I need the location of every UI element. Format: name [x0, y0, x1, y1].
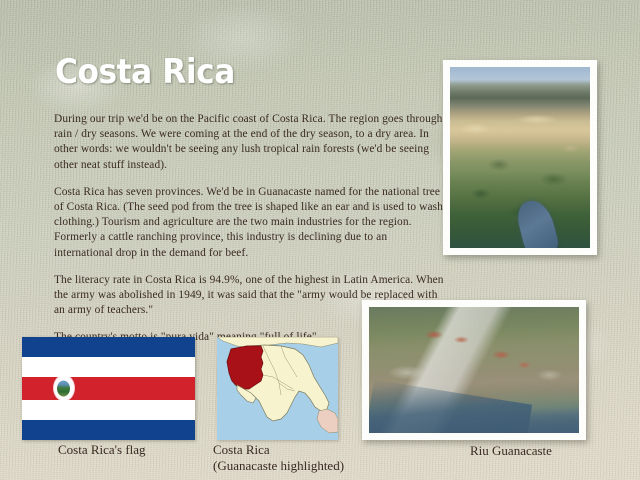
paragraph-provinces: Costa Rica has seven provinces. We'd be …: [54, 185, 444, 261]
coat-of-arms-inner: [57, 380, 70, 396]
flag-band-white-bottom: [22, 400, 195, 420]
paragraph-intro: During our trip we'd be on the Pacific c…: [54, 112, 444, 173]
costa-rica-flag: [22, 337, 195, 440]
costa-rica-map-svg: [217, 337, 338, 440]
flag-band-blue-bottom: [22, 420, 195, 440]
caption-map: Costa Rica (Guanacaste highlighted): [213, 442, 363, 474]
coat-of-arms-icon: [54, 376, 74, 401]
page-title: Costa Rica: [55, 52, 235, 92]
flag-band-white-top: [22, 357, 195, 377]
presentation-slide: Costa Rica During our trip we'd be on th…: [0, 0, 640, 480]
caption-map-line2: (Guanacaste highlighted): [213, 458, 363, 474]
caption-map-line1: Costa Rica: [213, 442, 363, 458]
flag-band-red: [22, 377, 195, 400]
guanacaste-landscape-photo: [443, 60, 597, 255]
resort-photo-image: [369, 307, 579, 433]
landscape-photo-image: [450, 67, 590, 248]
flag-band-blue-top: [22, 337, 195, 357]
caption-flag: Costa Rica's flag: [58, 442, 146, 458]
riu-guanacaste-resort-photo: [362, 300, 586, 440]
costa-rica-map: [217, 337, 338, 440]
caption-resort: Riu Guanacaste: [470, 443, 552, 459]
